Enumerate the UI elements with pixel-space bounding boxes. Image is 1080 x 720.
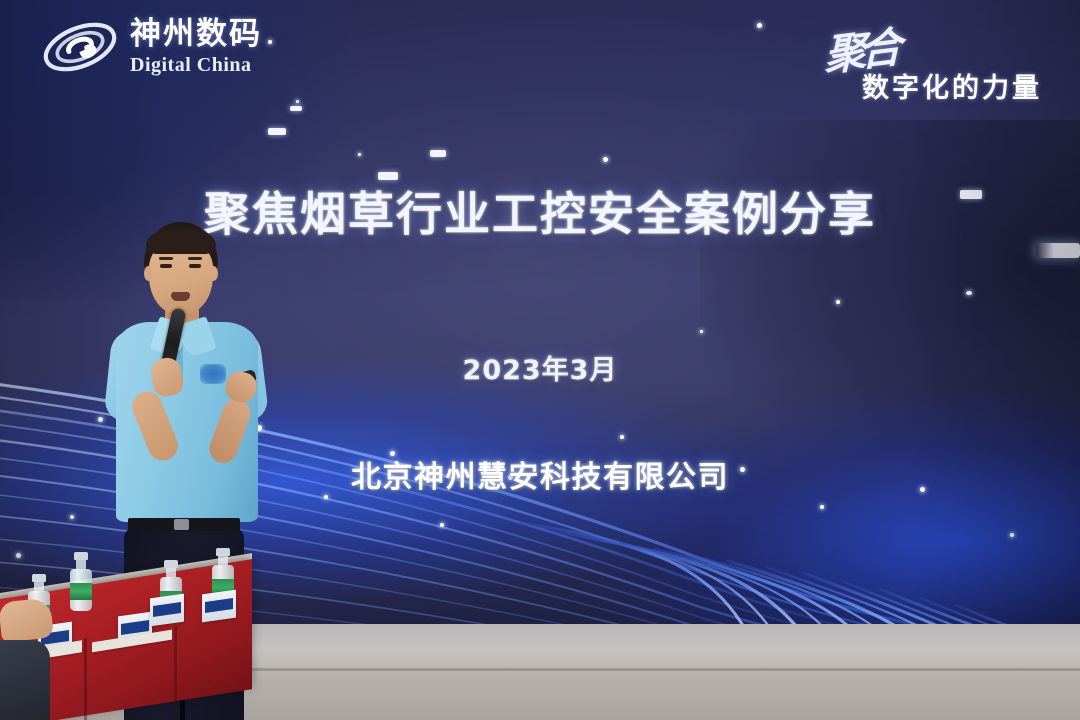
bottle-neck <box>34 582 44 591</box>
bottle-neck <box>76 560 86 569</box>
speaker-ear-left <box>144 266 153 281</box>
name-card-strip <box>205 598 233 613</box>
speaker-eyebrow-left <box>159 257 173 260</box>
digital-china-swirl-icon <box>40 14 120 80</box>
bottle-cap <box>164 560 178 568</box>
brand-name-cn: 神州数码 <box>130 19 262 50</box>
conference-photo: 聚焦烟草行业工控安全案例分享 2023年3月 北京神州慧安科技有限公司 神州数码… <box>0 0 1080 720</box>
speaker-eye-left <box>160 264 172 268</box>
attendee-hand <box>0 597 54 642</box>
attendee-silhouette <box>0 640 50 720</box>
name-card-holder <box>202 590 236 623</box>
water-bottle <box>70 552 92 611</box>
brand-text: 神州数码 Digital China <box>130 19 262 75</box>
speaker-eyebrow-right <box>188 257 202 260</box>
table-cloth-fold <box>84 638 87 720</box>
name-card-strip <box>121 620 149 635</box>
speaker-belt-buckle <box>174 519 189 530</box>
name-card-strip <box>153 602 181 617</box>
speaker-hair-front <box>146 228 216 254</box>
speaker-eye-right <box>189 264 201 268</box>
table-cloth-fold <box>174 626 177 720</box>
bottle-label <box>70 583 92 600</box>
speaker-chest-logo <box>200 364 226 384</box>
bottle-neck <box>218 556 228 565</box>
name-card-holder <box>150 594 184 627</box>
brand-name-en: Digital China <box>130 55 262 75</box>
brand-logo: 神州数码 Digital China <box>40 14 262 80</box>
bottle-body <box>70 569 92 611</box>
event-tagline: 数字化的力量 <box>862 66 1042 105</box>
bottle-cap <box>74 552 88 560</box>
speaker-ear-right <box>209 266 218 281</box>
bottle-cap <box>32 574 46 582</box>
speaker-mouth <box>171 292 190 301</box>
bottle-neck <box>166 568 176 577</box>
event-logo: 聚合 数字化的力量 <box>802 18 1052 110</box>
bottle-cap <box>216 548 230 556</box>
